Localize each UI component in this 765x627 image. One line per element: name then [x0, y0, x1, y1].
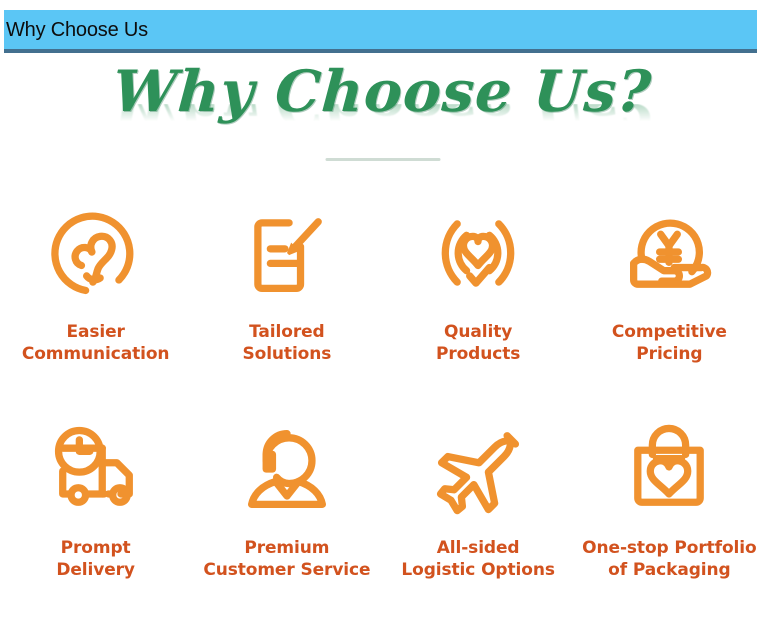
feature-label: All-sided Logistic Options: [401, 537, 554, 582]
page-content: Why Choose Us? Why Choose Us? Easier Com…: [0, 57, 765, 599]
hero-section: Why Choose Us? Why Choose Us?: [0, 57, 765, 165]
feature-item-competitive-pricing[interactable]: Competitive Pricing: [574, 195, 765, 411]
window-titlebar: Why Choose Us: [4, 10, 757, 53]
feature-label: Easier Communication: [22, 321, 170, 366]
feature-item-quality-products[interactable]: Quality Products: [383, 195, 574, 411]
feature-item-all-sided-logistic-options[interactable]: All-sided Logistic Options: [383, 411, 574, 627]
window-title: Why Choose Us: [4, 20, 148, 40]
feature-item-one-stop-portfolio-of-packaging[interactable]: One-stop Portfolio of Packaging: [574, 411, 765, 627]
feature-item-easier-communication[interactable]: Easier Communication: [0, 195, 191, 411]
shopping-bag-heart-icon: [617, 417, 721, 521]
feature-item-prompt-delivery[interactable]: Prompt Delivery: [0, 411, 191, 627]
ear-in-circle-icon: [44, 201, 148, 305]
feature-item-tailored-solutions[interactable]: Tailored Solutions: [191, 195, 382, 411]
feature-label: Tailored Solutions: [242, 321, 331, 366]
feature-label: Competitive Pricing: [612, 321, 727, 366]
feature-item-premium-customer-service[interactable]: Premium Customer Service: [191, 411, 382, 627]
feature-label: Prompt Delivery: [56, 537, 135, 582]
feature-label: Quality Products: [436, 321, 520, 366]
feature-label: Premium Customer Service: [203, 537, 370, 582]
headset-agent-icon: [235, 417, 339, 521]
feature-grid: Easier Communication Tailored Solutions: [0, 195, 765, 627]
feature-label: One-stop Portfolio of Packaging: [582, 537, 756, 582]
document-pencil-icon: [235, 201, 339, 305]
delivery-truck-clock-icon: [44, 417, 148, 521]
hand-holding-yen-coin-icon: [617, 201, 721, 305]
hero-divider: [325, 158, 440, 161]
page-title-reflection: Why Choose Us?: [112, 104, 653, 134]
heart-signal-check-icon: [426, 201, 530, 305]
hero-title-wrap: Why Choose Us? Why Choose Us?: [113, 57, 652, 134]
airplane-icon: [426, 417, 530, 521]
